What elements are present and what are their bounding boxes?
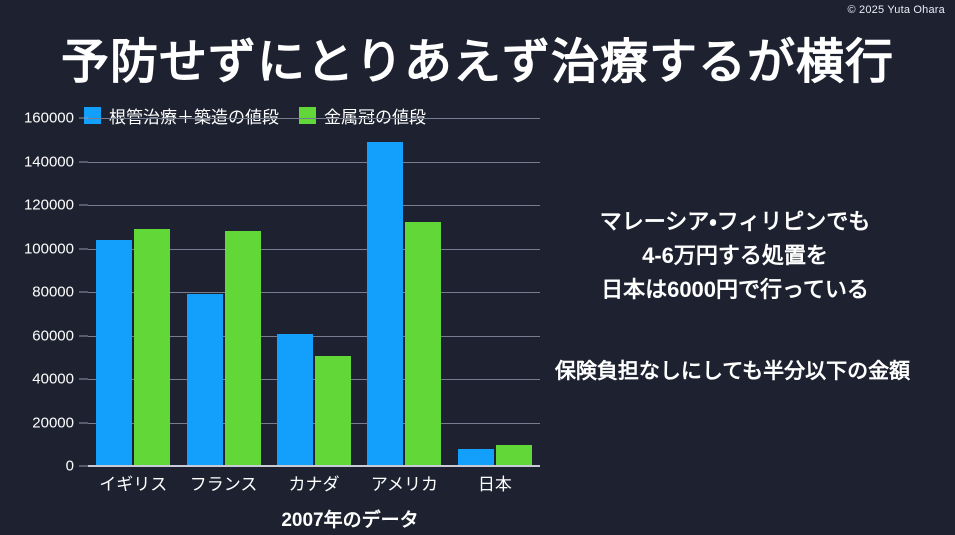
y-tick-mark	[79, 248, 88, 249]
annotation-line: 日本は6000円で行っている	[515, 273, 955, 307]
bar-groups	[88, 118, 540, 466]
y-axis: 0200004000060000800001000001200001400001…	[0, 118, 88, 478]
x-axis-label: カナダ	[269, 470, 359, 495]
annotation-secondary: 保険負担なしにしても半分以下の金額	[510, 355, 955, 385]
bar-イギリス-series-1	[134, 229, 170, 466]
bar-group	[269, 118, 359, 466]
bar-カナダ-series-1	[315, 356, 351, 466]
bar-group	[359, 118, 449, 466]
x-axis-labels: イギリスフランスカナダアメリカ日本	[88, 470, 540, 495]
x-axis-label: フランス	[178, 470, 268, 495]
y-tick-label: 60000	[32, 327, 74, 344]
x-axis-label: 日本	[450, 470, 540, 495]
y-tick-mark	[79, 335, 88, 336]
bar-日本-series-1	[496, 445, 532, 466]
annotation-primary: マレーシア・フィリピンでも4-6万円する処置を日本は6000円で行っている	[515, 205, 955, 307]
annotation-line: マレーシア・フィリピンでも	[515, 205, 955, 239]
y-tick-mark	[79, 161, 88, 162]
bar-カナダ-series-0	[277, 334, 313, 466]
bar-アメリカ-series-1	[405, 222, 441, 466]
y-tick-label: 160000	[24, 110, 74, 127]
bar-group	[178, 118, 268, 466]
y-tick-mark	[79, 118, 88, 119]
y-tick-mark	[79, 379, 88, 380]
copyright-notice: © 2025 Yuta Ohara	[847, 4, 945, 16]
y-tick-label: 20000	[32, 414, 74, 431]
x-axis-label: イギリス	[88, 470, 178, 495]
x-axis-label: アメリカ	[359, 470, 449, 495]
y-tick-mark	[79, 205, 88, 206]
bar-group	[450, 118, 540, 466]
bar-group	[88, 118, 178, 466]
slide-canvas: © 2025 Yuta Ohara 予防せずにとりあえず治療するが横行 根管治療…	[0, 0, 955, 535]
y-tick-label: 140000	[24, 153, 74, 170]
y-tick-label: 100000	[24, 240, 74, 257]
chart-caption: 2007年のデータ	[0, 505, 700, 532]
bar-フランス-series-0	[187, 294, 223, 466]
plot-area	[88, 118, 540, 478]
bar-フランス-series-1	[225, 231, 261, 466]
y-tick-mark	[79, 466, 88, 467]
annotation-line: 4-6万円する処置を	[515, 239, 955, 273]
y-tick-label: 0	[66, 458, 74, 475]
y-tick-mark	[79, 292, 88, 293]
bar-chart: 0200004000060000800001000001200001400001…	[0, 118, 540, 478]
y-tick-mark	[79, 422, 88, 423]
bar-イギリス-series-0	[96, 240, 132, 466]
y-tick-label: 40000	[32, 371, 74, 388]
bar-アメリカ-series-0	[367, 142, 403, 466]
page-title: 予防せずにとりあえず治療するが横行	[0, 22, 955, 92]
y-tick-label: 80000	[32, 284, 74, 301]
axis-baseline	[88, 465, 540, 467]
bar-日本-series-0	[458, 449, 494, 466]
y-tick-label: 120000	[24, 197, 74, 214]
